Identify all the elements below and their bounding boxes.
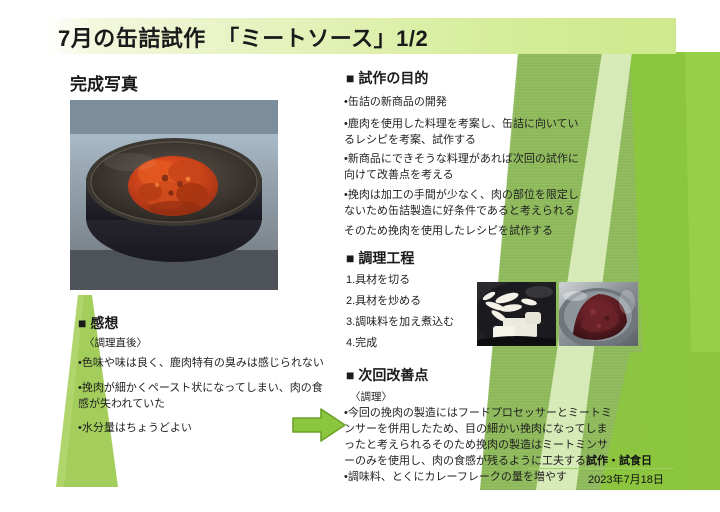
purpose-item: そのため挽肉を使用したレシピを試作する: [344, 224, 584, 240]
process-step: 1.具材を切る: [346, 273, 410, 289]
date-label: 試作・試食日: [586, 452, 652, 468]
improvements-item: •今回の挽肉の製造にはフードプロセッサーとミートミンサーを併用したため、目の細か…: [344, 406, 612, 470]
process-step: 3.調味料を加え煮込む: [346, 315, 454, 331]
process-photo-ground-meat: [559, 282, 638, 346]
impressions-subheading: 〈調理直後〉: [84, 336, 147, 351]
process-photo-onion: [477, 282, 556, 346]
hero-photo-finished-dish: [70, 100, 278, 290]
process-heading: ■ 調理工程: [346, 248, 414, 268]
page-title: 7月の缶詰試作 「ミートソース」1/2: [58, 21, 428, 53]
purpose-heading: ■ 試作の目的: [346, 68, 428, 88]
date-divider: [528, 468, 674, 469]
improvements-heading: ■ 次回改善点: [346, 365, 428, 385]
purpose-item: •缶詰の新商品の開発: [344, 95, 574, 111]
purpose-item: •挽肉は加工の手間が少なく、肉の部位を限定しないため缶詰製造に好条件であると考え…: [344, 188, 584, 220]
slide-canvas: 7月の缶詰試作 「ミートソース」1/2 完成写真: [0, 0, 720, 512]
arrow-right-icon: [291, 407, 347, 443]
purpose-item: •鹿肉を使用した料理を考案し、缶詰に向いているレシピを考案、試作する: [344, 117, 584, 149]
impressions-item: •色味や味は良く、鹿肉特有の臭みは感じられない: [78, 356, 348, 372]
date-value: 2023年7月18日: [588, 471, 664, 487]
process-step: 2.具材を炒める: [346, 294, 421, 310]
improvements-subheading: 〈調理〉: [350, 390, 392, 405]
improvements-item: •調味料、とくにカレーフレークの量を増やす: [344, 470, 594, 486]
purpose-item: •新商品にできそうな料理があれば次回の試作に向けて改善点を考える: [344, 152, 580, 184]
impressions-heading: ■ 感想: [78, 313, 118, 333]
process-step: 4.完成: [346, 336, 377, 352]
photo-heading: 完成写真: [70, 70, 138, 95]
